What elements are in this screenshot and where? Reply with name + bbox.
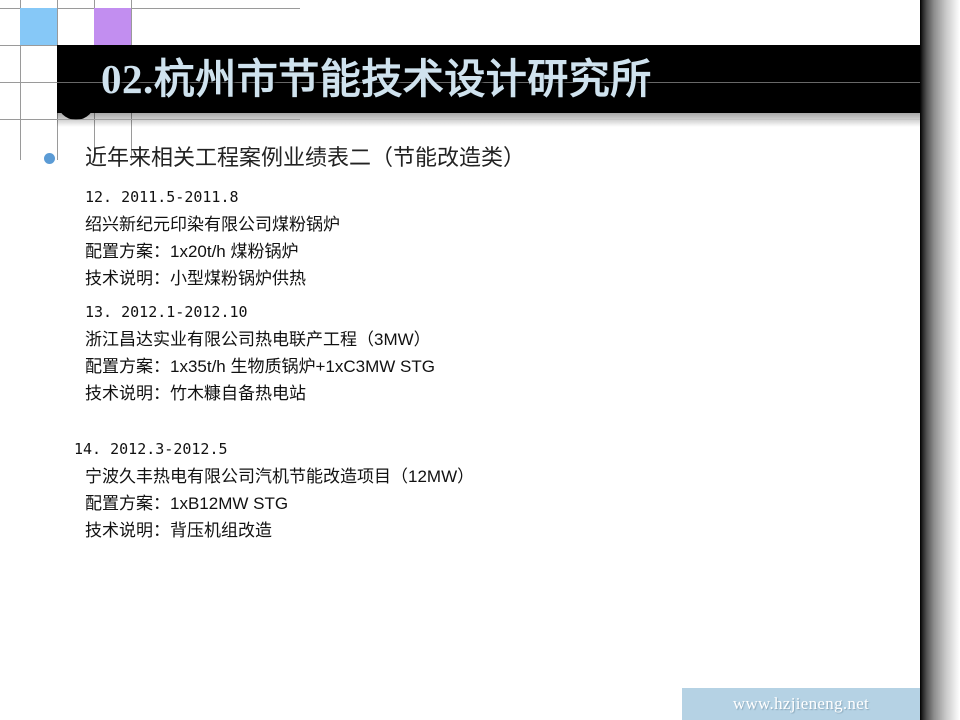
deco-square-purple: [94, 8, 131, 45]
entry-description: 技术说明：背压机组改造: [85, 517, 474, 544]
entry-description: 技术说明：竹木糠自备热电站: [85, 380, 435, 407]
slide-edge-shadow: [920, 0, 960, 720]
grid-line-over-banner: [57, 119, 920, 120]
project-entry-12: 12. 2011.5-2011.8 绍兴新纪元印染有限公司煤粉锅炉 配置方案：1…: [85, 184, 340, 292]
entry-heading: 14. 2012.3-2012.5: [74, 436, 474, 463]
entry-config: 配置方案：1x20t/h 煤粉锅炉: [85, 238, 340, 265]
entry-project: 绍兴新纪元印染有限公司煤粉锅炉: [85, 211, 340, 238]
section-bullet-row: 近年来相关工程案例业绩表二（节能改造类）: [44, 143, 525, 173]
entry-project: 宁波久丰热电有限公司汽机节能改造项目（12MW）: [85, 463, 474, 490]
deco-square-blue: [20, 8, 57, 45]
presentation-slide: 02.杭州市节能技术设计研究所 近年来相关工程案例业绩表二（节能改造类） 12.…: [0, 0, 960, 720]
section-heading-label: 近年来相关工程案例业绩表二（节能改造类）: [85, 143, 525, 173]
footer-website-url[interactable]: www.hzjieneng.net: [682, 688, 920, 720]
entry-heading: 12. 2011.5-2011.8: [85, 184, 340, 211]
project-entry-14: 14. 2012.3-2012.5 宁波久丰热电有限公司汽机节能改造项目（12M…: [74, 436, 474, 544]
project-entry-13: 13. 2012.1-2012.10 浙江昌达实业有限公司热电联产工程（3MW）…: [85, 299, 435, 407]
entry-config: 配置方案：1xB12MW STG: [85, 490, 474, 517]
page-title: 02.杭州市节能技术设计研究所: [101, 52, 652, 106]
bullet-dot-icon: [44, 153, 55, 164]
entry-project: 浙江昌达实业有限公司热电联产工程（3MW）: [85, 326, 435, 353]
entry-heading: 13. 2012.1-2012.10: [85, 299, 435, 326]
banner-drop-shadow: [57, 113, 920, 127]
entry-config: 配置方案：1x35t/h 生物质锅炉+1xC3MW STG: [85, 353, 435, 380]
entry-description: 技术说明：小型煤粉锅炉供热: [85, 265, 340, 292]
